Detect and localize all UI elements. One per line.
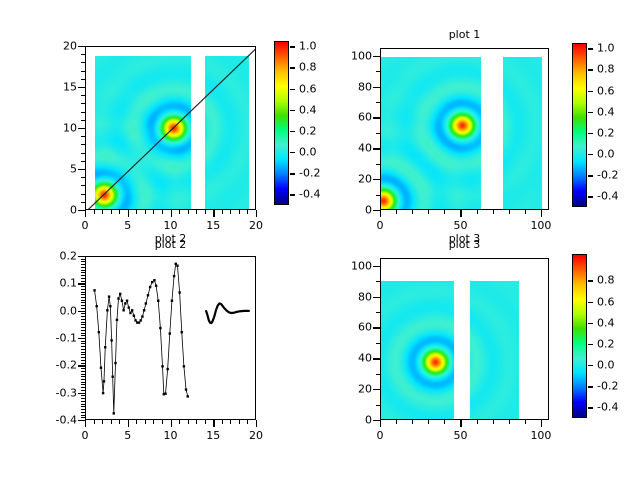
y-minor-tick [81,352,85,353]
colorbar-tick-label: 0.4 [597,105,615,118]
y-major-tick [373,297,380,298]
y-minor-tick [81,316,85,317]
x-major-tick [128,210,129,217]
y-minor-tick [81,327,85,328]
x-major-tick [171,420,172,427]
x-minor-tick [493,210,494,214]
x-minor-tick [509,210,510,214]
data-point-marker [93,289,95,291]
colorbar-tick [588,112,593,113]
x-minor-tick [247,210,248,214]
data-point-marker [113,412,115,414]
y-minor-tick [81,404,85,405]
x-minor-tick [179,210,180,214]
x-tick-label: 50 [453,219,467,232]
y-major-tick [373,210,380,211]
data-point-marker [95,305,97,307]
data-point-marker [164,392,166,394]
x-minor-tick [477,210,478,214]
y-tick-label: -0.1 [27,332,77,345]
x-minor-tick [188,420,189,424]
axes-bottom-right[interactable] [380,258,549,420]
data-point-marker [104,346,106,348]
data-point-marker [173,275,175,277]
y-tick-label: 60 [322,111,372,124]
y-minor-tick [81,398,85,399]
y-major-tick [78,87,85,88]
colorbar-tick-label: 0.0 [299,146,317,159]
colorbar-tick-label: -0.4 [299,188,320,201]
data-point-marker [149,286,151,288]
colorbar-tick [588,69,593,70]
axes-top-left[interactable] [85,46,256,210]
y-minor-tick [81,322,85,323]
data-point-marker [141,315,143,317]
y-minor-tick [81,349,85,350]
y-tick-label: 80 [322,290,372,303]
colorbar-tick-label: 0.4 [597,316,615,329]
y-minor-tick [81,379,85,380]
y-tick-label: 20 [27,40,77,53]
x-tick-label: 10 [164,429,178,442]
x-tick-label: 100 [530,219,551,232]
y-tick-label: 100 [322,259,372,272]
data-point-marker [121,300,123,302]
colorbar-tick-label: 1.0 [597,42,615,55]
x-minor-tick [111,210,112,214]
x-minor-tick [145,210,146,214]
data-point-marker [133,315,135,317]
y-tick-label: 40 [322,352,372,365]
colorbar-tick [290,67,295,68]
y-minor-tick [81,343,85,344]
y-minor-tick [81,384,85,385]
colorbar-tick [588,154,593,155]
title-bottom-right: plot 3 [380,238,549,251]
y-minor-tick [81,264,85,265]
data-point-marker [185,388,187,390]
y-major-tick [78,169,85,170]
x-major-tick [460,210,461,217]
subplot-top-left: plot 2 0510152005101520 1.00.80.60.40.20… [0,0,320,232]
y-minor-tick [81,62,85,63]
colorbar-tick-label: 0.2 [597,337,615,350]
x-minor-tick [222,210,223,214]
x-minor-tick [412,420,413,424]
y-major-tick [78,283,85,284]
x-minor-tick [94,420,95,424]
colorbar-tick [588,323,593,324]
colorbar-tick-label: -0.4 [597,401,618,414]
x-minor-tick [162,210,163,214]
y-minor-tick [81,120,85,121]
x-minor-tick [205,210,206,214]
x-major-tick [85,210,86,217]
x-minor-tick [102,210,103,214]
y-minor-tick [81,71,85,72]
data-point-marker [100,367,102,369]
data-point-marker [110,339,112,341]
x-tick-label: 0 [377,219,384,232]
colorbar-tick-label: 0.8 [299,61,317,74]
x-minor-tick [493,420,494,424]
x-major-tick [541,420,542,427]
data-point-marker [103,380,105,382]
data-point-marker [147,294,149,296]
y-tick-label: 0 [27,204,77,217]
x-major-tick [541,210,542,217]
y-tick-label: 10 [27,122,77,135]
x-tick-label: 20 [249,429,263,442]
data-point-marker [155,285,157,287]
y-tick-label: -0.4 [27,414,77,427]
x-major-tick [213,420,214,427]
heatmap-image-block [381,281,454,420]
subplot-bottom-left: plot 2 051015200.20.10.0-0.1-0.2-0.3-0.4 [0,232,320,480]
colorbar-tick [588,133,593,134]
line-plot-canvas [86,257,256,420]
axes-bottom-left[interactable] [85,256,256,420]
data-point-marker [122,309,124,311]
colorbar-tick [290,89,295,90]
data-point-marker [129,312,131,314]
y-major-tick [373,266,380,267]
x-minor-tick [222,420,223,424]
colorbar-tick [290,110,295,111]
data-point-marker [151,281,153,283]
y-tick-label: 5 [27,163,77,176]
data-point-marker [108,295,110,297]
colorbar-tick-label: 0.8 [597,274,615,287]
data-point-marker [159,327,161,329]
x-major-tick [128,420,129,427]
y-major-tick [373,389,380,390]
x-minor-tick [205,420,206,424]
x-minor-tick [196,420,197,424]
y-tick-label: -0.3 [27,386,77,399]
x-major-tick [256,420,257,427]
y-minor-tick [81,412,85,413]
x-minor-tick [525,210,526,214]
y-tick-label: 20 [322,173,372,186]
x-minor-tick [102,420,103,424]
colorbar-tick-label: 0.6 [597,84,615,97]
x-minor-tick [247,420,248,424]
x-minor-tick [396,420,397,424]
colorbar-tick [588,365,593,366]
colorbar-tick [290,46,295,47]
y-minor-tick [81,354,85,355]
y-minor-tick [81,54,85,55]
subplot-bottom-right: plot 3 050100020406080100 0.80.60.40.20.… [320,232,640,480]
y-minor-tick [376,71,380,72]
y-minor-tick [376,195,380,196]
y-minor-tick [81,308,85,309]
data-point-marker [169,332,171,334]
colorbar-tick-label: -0.2 [597,380,618,393]
data-point-marker [171,300,173,302]
y-major-tick [78,420,85,421]
y-minor-tick [81,300,85,301]
y-minor-tick [81,259,85,260]
y-minor-tick [81,286,85,287]
data-point-marker [98,331,100,333]
y-major-tick [373,87,380,88]
y-minor-tick [81,281,85,282]
y-minor-tick [81,289,85,290]
colorbar-tick [588,175,593,176]
data-point-marker [176,265,178,267]
y-minor-tick [81,194,85,195]
x-minor-tick [111,420,112,424]
y-major-tick [373,117,380,118]
y-tick-label: 0.1 [27,277,77,290]
colorbar-tick [588,407,593,408]
y-minor-tick [81,360,85,361]
y-tick-label: 20 [322,383,372,396]
y-minor-tick [81,409,85,410]
title-top-right: plot 1 [380,28,549,41]
y-minor-tick [81,357,85,358]
data-point-marker [187,395,189,397]
x-minor-tick [412,210,413,214]
y-tick-label: 60 [322,321,372,334]
colorbar-tick-label: 1.0 [299,40,317,53]
colorbar-tick [588,91,593,92]
colorbar-tick-label: 0.6 [299,82,317,95]
data-point-marker [116,319,118,321]
x-tick-label: 20 [249,219,263,232]
y-minor-tick [81,335,85,336]
y-minor-tick [81,395,85,396]
y-minor-tick [81,161,85,162]
y-minor-tick [81,313,85,314]
colorbar-tick-label: 0.2 [299,124,317,137]
data-point-marker [183,365,185,367]
x-major-tick [380,420,381,427]
y-minor-tick [81,294,85,295]
colorbar-top-left [274,41,289,205]
x-major-tick [85,420,86,427]
y-major-tick [78,210,85,211]
x-minor-tick [162,420,163,424]
y-tick-label: 0.0 [27,304,77,317]
y-minor-tick [376,133,380,134]
data-point-marker [145,302,147,304]
y-major-tick [373,56,380,57]
y-minor-tick [81,103,85,104]
x-tick-label: 50 [453,429,467,442]
y-major-tick [373,358,380,359]
x-minor-tick [230,420,231,424]
x-minor-tick [136,210,137,214]
y-minor-tick [376,281,380,282]
data-point-marker [119,293,121,295]
y-minor-tick [81,374,85,375]
y-minor-tick [81,346,85,347]
colorbar-tick-label: -0.2 [597,169,618,182]
x-minor-tick [525,420,526,424]
x-tick-label: 15 [206,219,220,232]
y-minor-tick [81,278,85,279]
data-point-marker [157,300,159,302]
x-tick-label: 15 [206,429,220,442]
y-minor-tick [81,368,85,369]
y-major-tick [373,148,380,149]
colorbar-tick [290,131,295,132]
y-minor-tick [376,164,380,165]
x-minor-tick [239,210,240,214]
y-major-tick [78,338,85,339]
colorbar-tick [290,194,295,195]
x-major-tick [460,420,461,427]
colorbar-tick [588,280,593,281]
y-minor-tick [81,292,85,293]
title-bottom-left: plot 2 [85,238,256,251]
y-minor-tick [81,371,85,372]
x-tick-label: 100 [530,429,551,442]
x-minor-tick [188,210,189,214]
y-minor-tick [376,374,380,375]
x-major-tick [213,210,214,217]
heatmap-image-block [470,281,519,420]
y-tick-label: 0 [322,204,372,217]
data-series-line [206,303,249,323]
y-major-tick [373,327,380,328]
x-major-tick [256,210,257,217]
colorbar-tick-label: 0.2 [597,126,615,139]
y-major-tick [78,311,85,312]
y-minor-tick [376,405,380,406]
x-minor-tick [179,420,180,424]
colorbar-tick-label: -0.4 [597,190,618,203]
y-minor-tick [81,112,85,113]
data-point-marker [114,362,116,364]
x-minor-tick [509,420,510,424]
colorbar-tick [588,196,593,197]
x-minor-tick [119,420,120,424]
x-minor-tick [145,420,146,424]
y-minor-tick [81,270,85,271]
heatmap-image-block [205,56,249,209]
data-point-marker [178,291,180,293]
data-point-marker [124,302,126,304]
x-minor-tick [94,210,95,214]
data-point-marker [128,306,130,308]
y-minor-tick [81,202,85,203]
data-point-marker [111,376,113,378]
data-point-marker [166,368,168,370]
colorbar-tick [290,173,295,174]
y-minor-tick [81,275,85,276]
x-tick-label: 5 [124,219,131,232]
y-minor-tick [81,177,85,178]
y-minor-tick [81,390,85,391]
heatmap-image-block [503,57,542,210]
y-tick-label: 40 [322,142,372,155]
axes-top-right[interactable] [380,48,549,210]
colorbar-tick-label: 0.4 [299,103,317,116]
colorbar-tick [290,152,295,153]
heatmap-image-block [381,57,481,210]
y-minor-tick [81,272,85,273]
data-point-marker [181,331,183,333]
y-tick-label: 15 [27,81,77,94]
y-minor-tick [81,319,85,320]
y-minor-tick [81,153,85,154]
y-major-tick [78,128,85,129]
heatmap-image-block [95,56,191,209]
colorbar-tick-label: 0.8 [597,63,615,76]
subplot-top-right: plot 1 plot 3 050100020406080100 1.00.80… [320,0,640,232]
data-point-marker [117,297,119,299]
y-minor-tick [376,343,380,344]
x-minor-tick [444,210,445,214]
y-minor-tick [81,79,85,80]
y-minor-tick [81,267,85,268]
data-point-marker [106,309,108,311]
colorbar-tick-label: 0.6 [597,295,615,308]
x-minor-tick [396,210,397,214]
data-point-marker [102,392,104,394]
y-minor-tick [81,305,85,306]
data-point-marker [140,319,142,321]
x-minor-tick [136,420,137,424]
y-tick-label: 0 [322,414,372,427]
y-minor-tick [81,376,85,377]
y-major-tick [78,46,85,47]
data-point-marker [153,279,155,281]
data-point-marker [143,309,145,311]
x-major-tick [171,210,172,217]
colorbar-tick [588,344,593,345]
y-minor-tick [81,261,85,262]
y-tick-label: 80 [322,80,372,93]
x-minor-tick [119,210,120,214]
y-minor-tick [81,330,85,331]
colorbar-tick-label: -0.2 [299,167,320,180]
x-minor-tick [196,210,197,214]
y-minor-tick [81,387,85,388]
y-minor-tick [81,341,85,342]
x-minor-tick [239,420,240,424]
colorbar-tick-label: 0.0 [597,148,615,161]
colorbar-tick [588,48,593,49]
y-minor-tick [81,406,85,407]
y-minor-tick [376,312,380,313]
colorbar-tick-label: 0.0 [597,359,615,372]
y-tick-label: 100 [322,49,372,62]
y-minor-tick [81,324,85,325]
colorbar-tick [588,302,593,303]
x-minor-tick [230,210,231,214]
y-major-tick [373,420,380,421]
y-major-tick [78,393,85,394]
y-minor-tick [81,417,85,418]
colorbar-top-right [572,43,587,207]
data-point-marker [109,305,111,307]
y-minor-tick [81,95,85,96]
y-tick-label: 0.2 [27,250,77,263]
x-tick-label: 0 [82,429,89,442]
x-minor-tick [153,210,154,214]
x-minor-tick [428,210,429,214]
x-tick-label: 10 [164,219,178,232]
y-major-tick [373,179,380,180]
y-major-tick [78,365,85,366]
data-series-line [95,264,188,414]
y-tick-label: -0.2 [27,359,77,372]
